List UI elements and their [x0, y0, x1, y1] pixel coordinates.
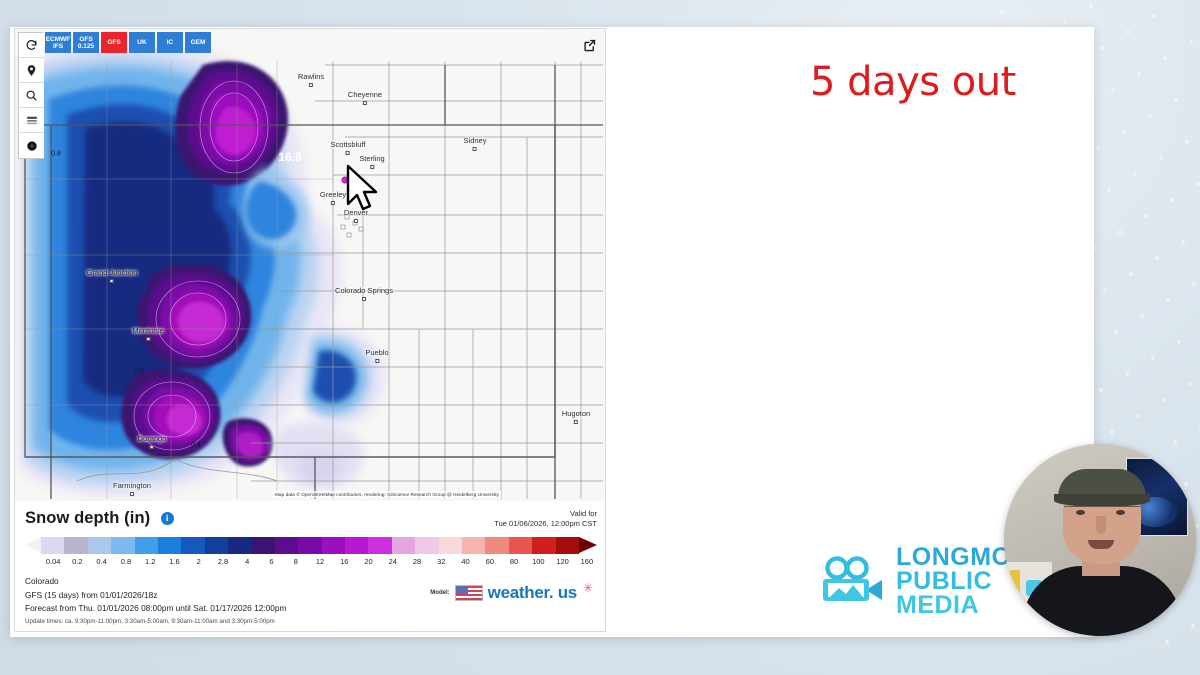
model-tab-line1: IC [167, 39, 174, 46]
zoom-search-icon[interactable] [19, 83, 44, 108]
scale-swatch-18 [462, 537, 485, 554]
legend-title-row: Snow depth (in) i [25, 509, 174, 528]
contour-value-label: 0.8 [134, 368, 144, 375]
legend-title: Snow depth (in) [25, 509, 150, 527]
valid-for-time: Tue 01/06/2026, 12:00pm CST [494, 519, 597, 529]
scale-tick-0: 0.04 [46, 557, 61, 566]
scale-tick-18: 60 [486, 557, 494, 566]
scale-swatch-5 [158, 537, 181, 554]
scale-tick-11: 12 [316, 557, 324, 566]
layers-icon[interactable] [19, 108, 44, 133]
scale-swatch-0 [41, 537, 64, 554]
scale-tick-1: 0.2 [72, 557, 82, 566]
scale-tick-2: 0.4 [96, 557, 106, 566]
us-flag-icon [455, 585, 483, 601]
presenter-webcam [1004, 444, 1196, 636]
scale-tick-15: 28 [413, 557, 421, 566]
contour-value-label: 0.4 [191, 442, 201, 449]
scale-swatch-14 [368, 537, 391, 554]
model-tab-ecmwf-[interactable]: ECMWFIFS [45, 32, 71, 53]
model-tab-uk[interactable]: UK [129, 32, 155, 53]
refresh-icon[interactable] [19, 33, 44, 58]
scale-swatch-21 [532, 537, 555, 554]
scale-right-cap [579, 537, 597, 553]
scale-swatch-4 [135, 537, 158, 554]
scale-tick-17: 40 [461, 557, 469, 566]
info-icon[interactable]: i [161, 512, 174, 525]
scale-tick-14: 24 [389, 557, 397, 566]
scale-swatches [41, 537, 579, 554]
model-tab-gfs-0125[interactable]: GFS0.125 [73, 32, 99, 53]
scale-tick-22: 160 [581, 557, 594, 566]
scale-swatch-1 [64, 537, 87, 554]
scale-swatch-15 [392, 537, 415, 554]
scale-swatch-10 [275, 537, 298, 554]
model-prefix-label: Model: [430, 590, 449, 596]
mouse-cursor [346, 164, 386, 216]
map-attribution: Map data © OpenStreetMap contributors, r… [273, 491, 501, 498]
map-tool-rail[interactable] [18, 32, 43, 159]
webcam-object-yellow [1010, 570, 1020, 596]
scale-swatch-6 [181, 537, 204, 554]
video-camera-icon [820, 556, 886, 606]
forecast-range-label: Forecast from Thu. 01/01/2026 08:00pm un… [25, 602, 597, 616]
location-pin-icon[interactable] [19, 58, 44, 83]
scale-swatch-7 [205, 537, 228, 554]
scale-tick-8: 4 [245, 557, 249, 566]
legend-header: Snow depth (in) i Valid for Tue 01/06/20… [25, 509, 597, 529]
scale-swatch-16 [415, 537, 438, 554]
scale-swatch-17 [439, 537, 462, 554]
scale-tick-16: 32 [437, 557, 445, 566]
model-tab-line1: UK [137, 39, 146, 46]
export-icon[interactable] [579, 35, 599, 55]
scale-left-cap [25, 537, 41, 553]
weather-us-brand[interactable]: Model: weather. us ✳ [430, 583, 593, 603]
legend-panel: Snow depth (in) i Valid for Tue 01/06/20… [15, 501, 606, 632]
scale-swatch-19 [485, 537, 508, 554]
scale-tick-21: 120 [556, 557, 569, 566]
presenter-eye-left [1076, 510, 1085, 515]
model-tab-gem[interactable]: GEM [185, 32, 211, 53]
brand-wordmark: weather. us [488, 583, 577, 603]
contour-value-label: 0.8 [51, 151, 61, 158]
color-scale [25, 537, 597, 554]
slide-card: 5 days out [10, 27, 1094, 637]
scale-tick-4: 1.2 [145, 557, 155, 566]
presenter-nose [1096, 516, 1106, 534]
scale-swatch-20 [509, 537, 532, 554]
model-tab-line1: GEM [191, 39, 206, 46]
scale-tick-20: 100 [532, 557, 545, 566]
presenter-eye-right [1116, 510, 1125, 515]
scale-tick-19: 80 [510, 557, 518, 566]
scale-tick-5: 1.6 [169, 557, 179, 566]
scale-tick-7: 2.8 [218, 557, 228, 566]
model-selector-tabs[interactable]: ECMWFIFSGFS0.125GFSUKICGEM [45, 32, 213, 53]
scale-swatch-22 [556, 537, 579, 554]
model-tab-line1: ECMWF [46, 36, 71, 43]
valid-time-block: Valid for Tue 01/06/2026, 12:00pm CST [494, 509, 597, 529]
legend-footer: Colorado GFS (15 days) from 01/01/2026/1… [25, 575, 597, 625]
snow-depth-map[interactable] [15, 29, 606, 501]
scale-swatch-3 [111, 537, 134, 554]
model-tab-line2: 0.125 [78, 43, 94, 50]
scale-swatch-8 [228, 537, 251, 554]
contour-value-label: 16.8 [278, 150, 301, 164]
page-title: 5 days out [810, 59, 1016, 105]
model-tab-line1: GFS [79, 36, 92, 43]
scale-tick-13: 20 [364, 557, 372, 566]
scale-tick-10: 8 [294, 557, 298, 566]
scale-swatch-11 [298, 537, 321, 554]
model-tab-line2: IFS [53, 43, 63, 50]
brand-sparkle-icon: ✳ [583, 581, 593, 595]
scale-tick-12: 16 [340, 557, 348, 566]
model-tab-line1: GFS [107, 39, 120, 46]
marker-dot-icon[interactable] [19, 133, 44, 158]
scale-swatch-2 [88, 537, 111, 554]
weather-map-widget[interactable]: RawlinsCheyenneScottsbluffSterlingSidney… [14, 28, 606, 632]
scale-swatch-12 [322, 537, 345, 554]
scale-tick-3: 0.8 [121, 557, 131, 566]
scale-tick-9: 6 [269, 557, 273, 566]
scale-swatch-9 [252, 537, 275, 554]
scale-tick-6: 2 [197, 557, 201, 566]
model-tab-ic[interactable]: IC [157, 32, 183, 53]
map-canvas-area[interactable]: RawlinsCheyenneScottsbluffSterlingSidney… [15, 29, 606, 501]
scale-tick-labels: 0.040.20.40.81.21.622.846812162024283240… [41, 557, 599, 569]
model-tab-gfs[interactable]: GFS [101, 32, 127, 53]
scale-swatch-13 [345, 537, 368, 554]
update-times-label: Update times: ca. 9:30pm-11:00pm, 3:30am… [25, 618, 597, 625]
valid-for-label: Valid for [494, 509, 597, 519]
